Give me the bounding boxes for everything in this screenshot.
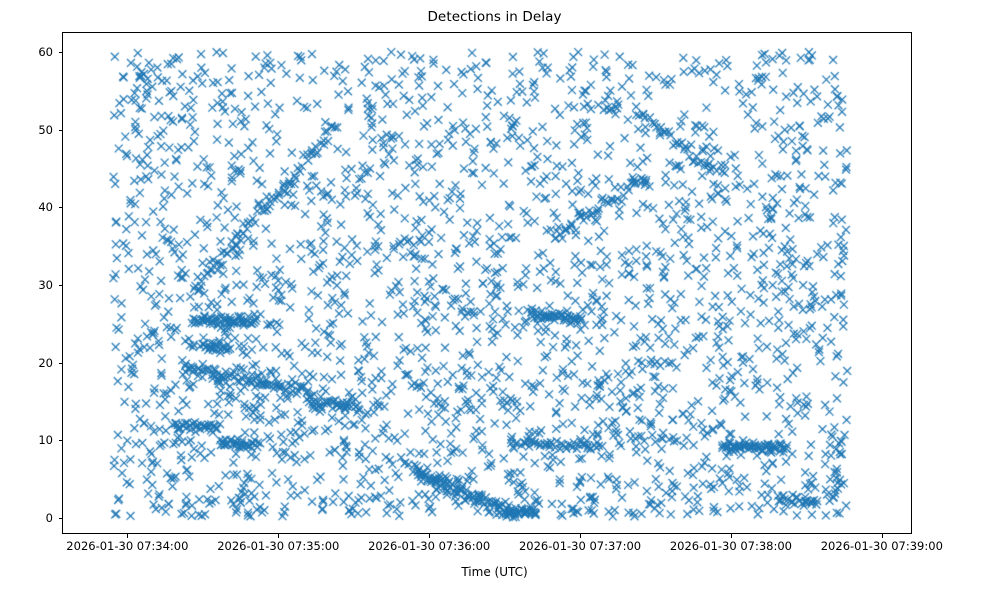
x-tick-label: 2026-01-30 07:35:00 (217, 539, 339, 553)
x-tick-label: 2026-01-30 07:34:00 (66, 539, 188, 553)
y-tick-mark (59, 440, 63, 441)
matplotlib-figure: Detections in Delay Bistatic Delay (km) … (0, 0, 989, 590)
y-tick-mark (59, 207, 63, 208)
x-tick-label: 2026-01-30 07:37:00 (519, 539, 641, 553)
y-tick-label: 20 (0, 356, 53, 370)
y-tick-label: 10 (0, 433, 53, 447)
x-tick-mark (429, 534, 430, 538)
y-tick-mark (59, 363, 63, 364)
x-tick-mark (580, 534, 581, 538)
y-tick-mark (59, 130, 63, 131)
x-tick-mark (731, 534, 732, 538)
y-tick-label: 0 (0, 511, 53, 525)
x-tick-label: 2026-01-30 07:36:00 (368, 539, 490, 553)
x-axis-label: Time (UTC) (0, 565, 989, 579)
x-tick-label: 2026-01-30 07:38:00 (670, 539, 792, 553)
y-tick-label: 60 (0, 45, 53, 59)
scatter-plot-canvas (63, 33, 913, 535)
x-tick-mark (882, 534, 883, 538)
y-tick-mark (59, 285, 63, 286)
y-tick-label: 40 (0, 200, 53, 214)
x-tick-label: 2026-01-30 07:39:00 (821, 539, 943, 553)
plot-axes (62, 32, 912, 534)
x-tick-mark (278, 534, 279, 538)
y-tick-label: 30 (0, 278, 53, 292)
x-tick-mark (127, 534, 128, 538)
y-tick-label: 50 (0, 123, 53, 137)
y-tick-mark (59, 518, 63, 519)
y-tick-mark (59, 52, 63, 53)
page-title: Detections in Delay (0, 9, 989, 25)
